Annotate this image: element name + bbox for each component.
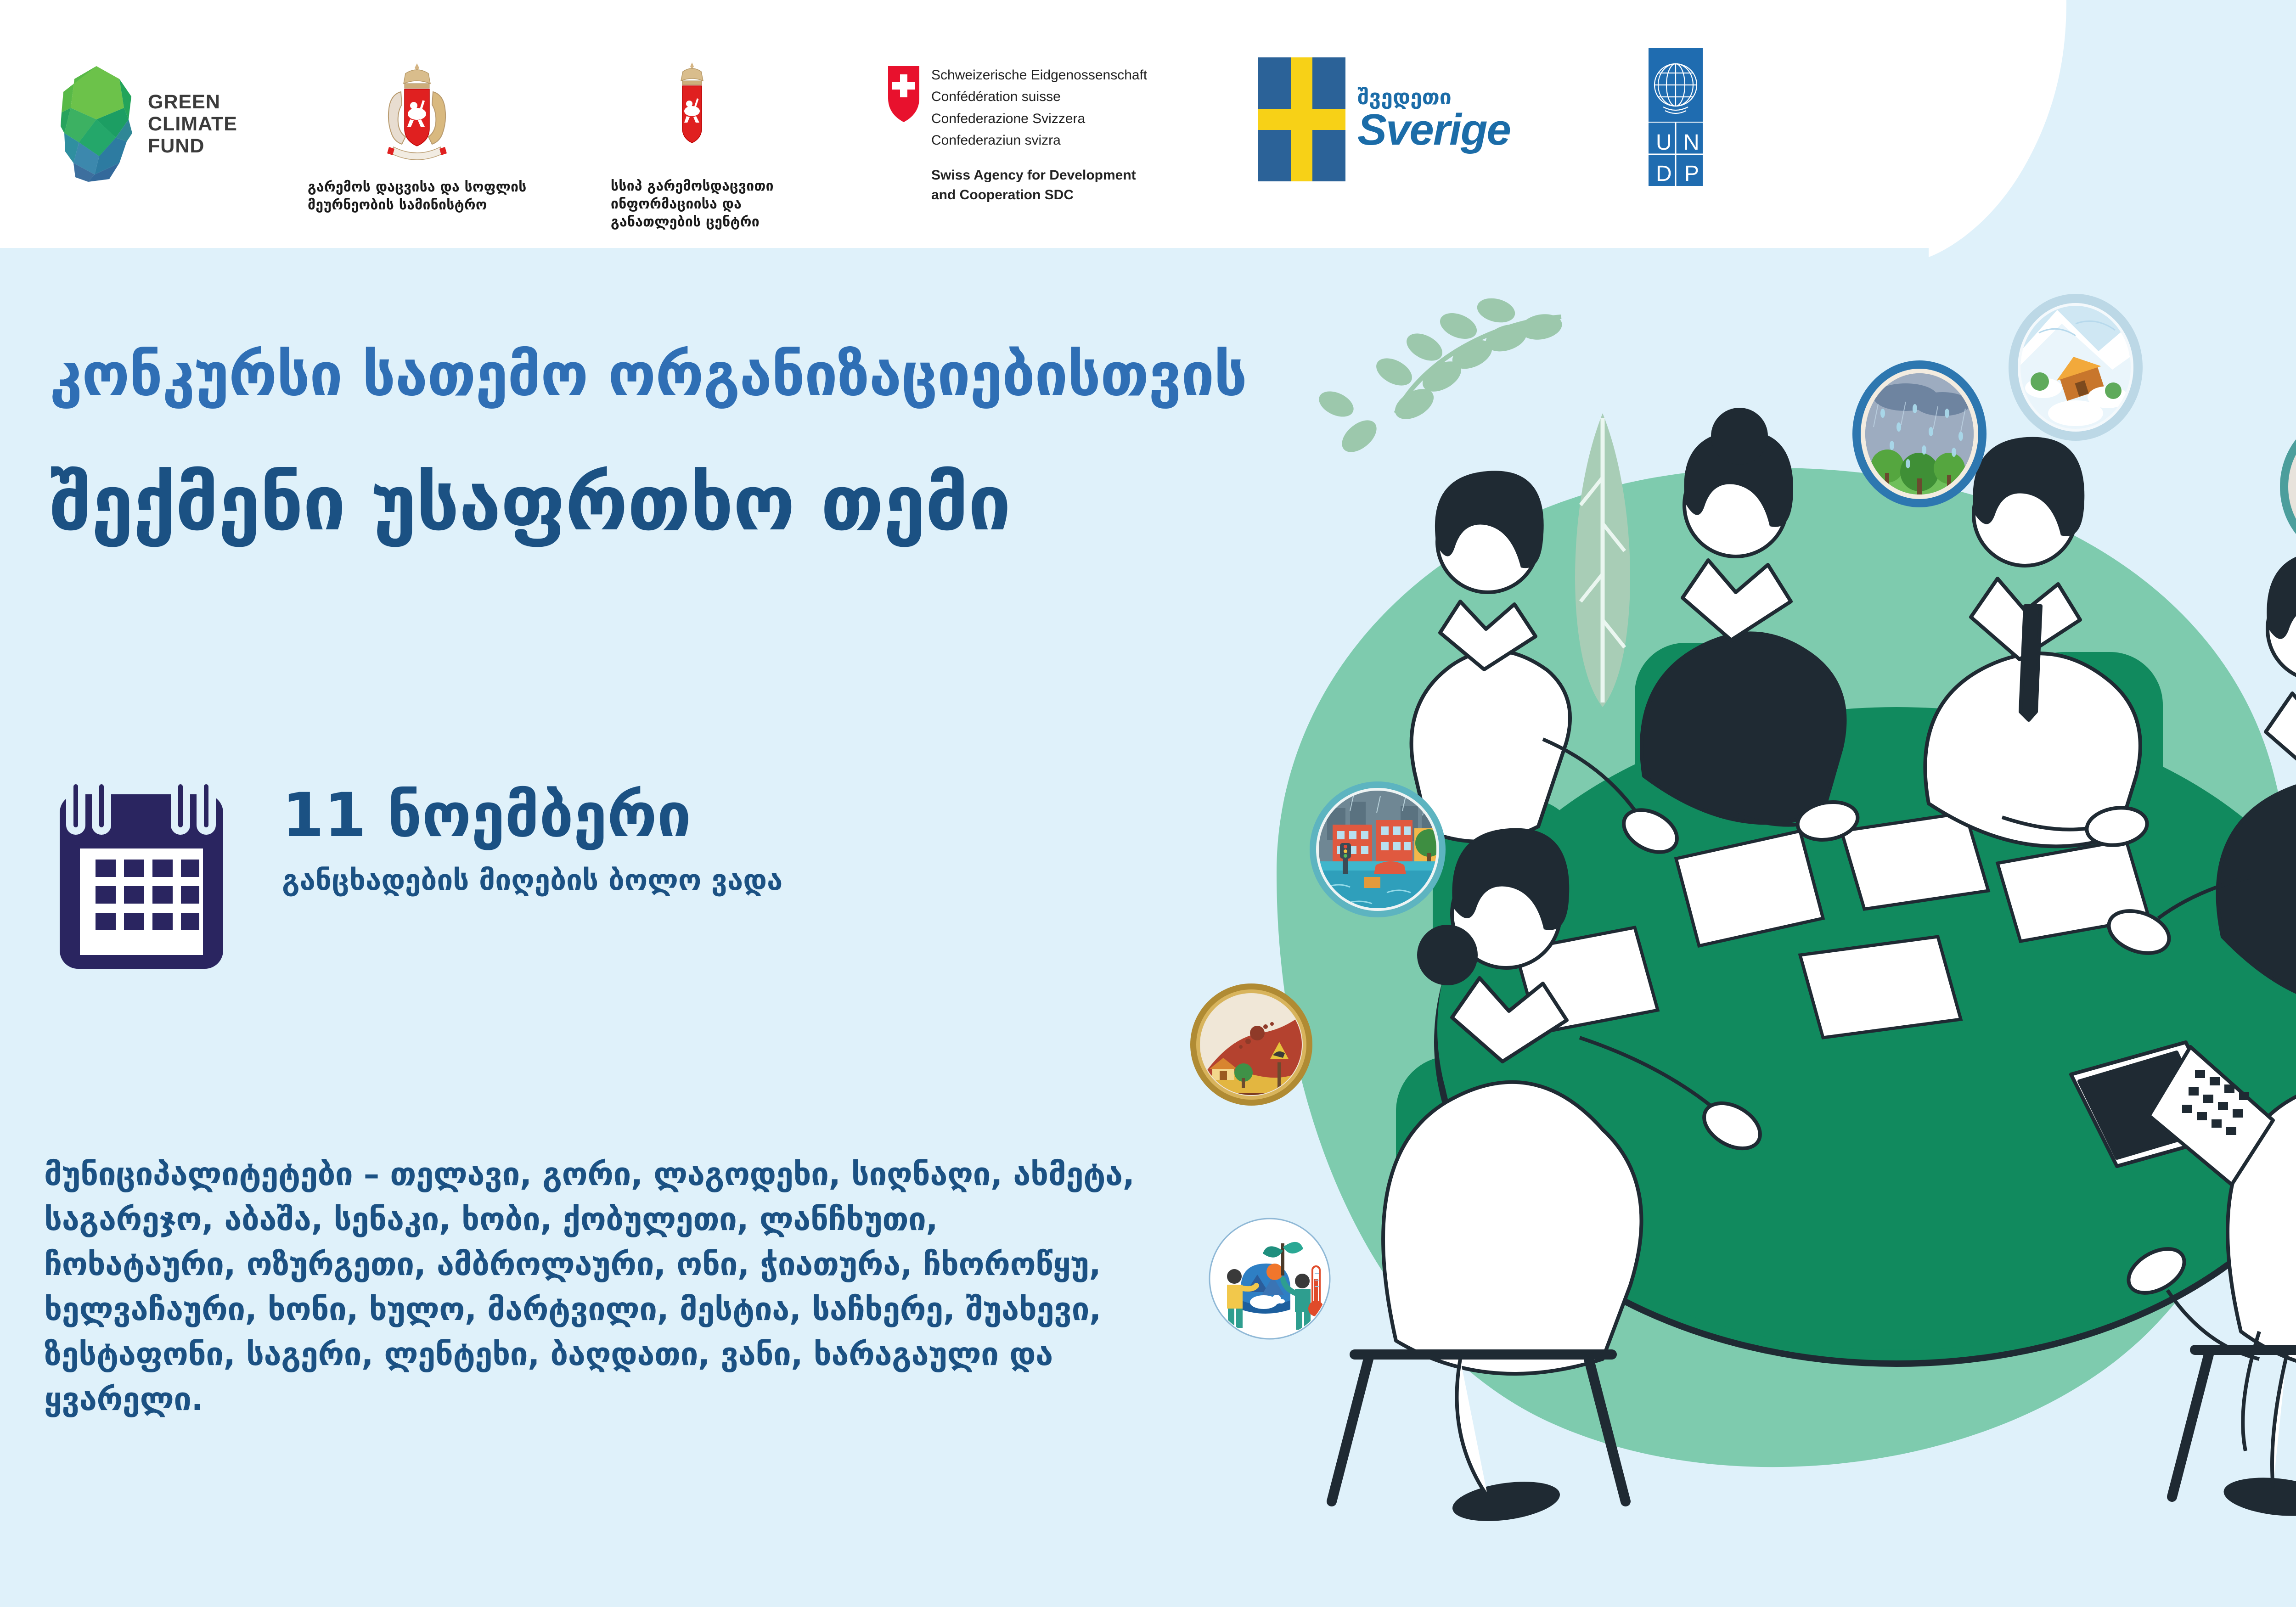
sverige-georgian-label: შვედეთი bbox=[1357, 86, 1510, 107]
hazard-urban-flood-icon bbox=[1309, 781, 1446, 918]
deadline-block: 11 ნოემბერი განცხადების მიღების ბოლო ვად… bbox=[60, 762, 782, 973]
gcf-sphere-icon bbox=[55, 64, 138, 184]
hazard-avalanche-icon bbox=[2007, 292, 2144, 443]
logo-ministry-of-environment: გარემოს დაცვისა და სოფლის მეურნეობის სამ… bbox=[308, 60, 527, 214]
page-title-line-2: შექმენი უსაფრთხო თემი bbox=[50, 459, 1011, 548]
shoes-front-right bbox=[2222, 1354, 2296, 1521]
undp-letters-block: U N D P bbox=[1649, 123, 1703, 186]
page-title-line-1: კონკურსი სათემო ორგანიზაციებისთვის bbox=[50, 341, 1247, 409]
logo-green-climate-fund: GREEN CLIMATE FUND bbox=[55, 64, 237, 184]
logo-sverige: შვედეთი Sverige bbox=[1258, 57, 1510, 181]
partner-logo-row: GREEN CLIMATE FUND bbox=[0, 0, 1929, 248]
hazard-landslide-icon bbox=[1189, 983, 1313, 1107]
foliage-branch bbox=[1315, 295, 1564, 459]
deadline-subtitle: განცხადების მიღების ბოლო ვადა bbox=[282, 866, 782, 894]
eiec-caption: სსიპ გარემოსდაცვითი ინფორმაციისა და განა… bbox=[611, 177, 774, 231]
undp-letter-n: N bbox=[1683, 130, 1699, 155]
hazard-heavy-rain-icon bbox=[1851, 358, 1988, 510]
ministry-caption: გარემოს დაცვისა და სოფლის მეურნეობის სამ… bbox=[308, 178, 527, 214]
swiss-cross-icon bbox=[886, 64, 921, 124]
deadline-date: 11 ნოემბერი bbox=[282, 785, 782, 846]
sweden-flag-icon bbox=[1258, 57, 1345, 181]
eiec-crest-icon bbox=[667, 60, 717, 165]
undp-letter-d: D bbox=[1656, 161, 1672, 186]
logo-undp: U N D P bbox=[1649, 48, 1703, 186]
gcf-caption: GREEN CLIMATE FUND bbox=[148, 91, 237, 157]
hazard-windstorm-icon bbox=[2278, 413, 2296, 560]
sverige-wordmark: Sverige bbox=[1357, 107, 1510, 152]
hazard-climate-change-icon bbox=[1208, 1217, 1332, 1341]
undp-letter-u: U bbox=[1656, 130, 1672, 155]
logo-swiss-sdc: Schweizerische Eidgenossenschaft Confédé… bbox=[886, 64, 1147, 205]
header-curve-shape bbox=[1929, 0, 2167, 257]
undp-letter-p: P bbox=[1684, 161, 1699, 186]
calendar-icon bbox=[60, 762, 262, 973]
logo-environmental-information-centre: სსიპ გარემოსდაცვითი ინფორმაციისა და განა… bbox=[611, 60, 774, 231]
georgia-coat-of-arms-icon bbox=[373, 60, 461, 165]
undp-emblem-icon bbox=[1649, 48, 1703, 122]
municipalities-list: მუნიციპალიტეტები – თელავი, გორი, ლაგოდეხ… bbox=[44, 1152, 1137, 1422]
swiss-caption: Schweizerische Eidgenossenschaft Confédé… bbox=[931, 64, 1147, 205]
